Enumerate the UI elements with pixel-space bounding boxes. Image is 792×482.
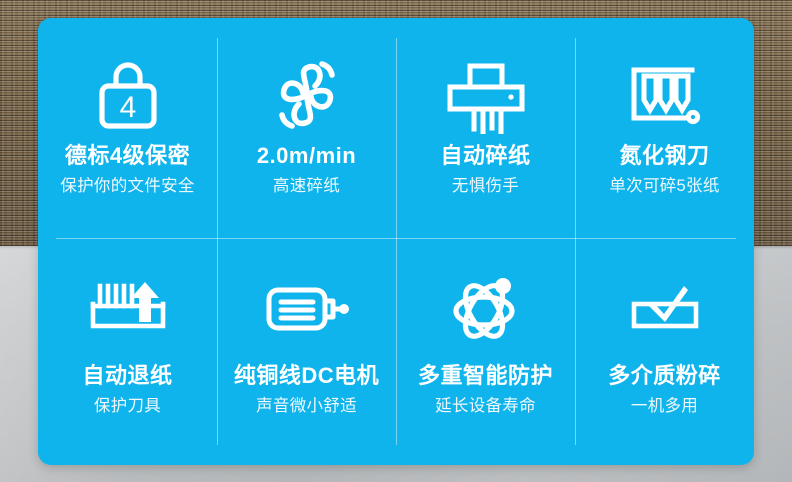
- feature-subtitle: 单次可碎5张纸: [609, 177, 719, 195]
- feature-title: 纯铜线DC电机: [234, 364, 379, 388]
- feature-subtitle: 无惧伤手: [452, 177, 519, 195]
- feature-grid: 4 德标4级保密 保护你的文件安全: [38, 18, 754, 465]
- feature-title: 德标4级保密: [65, 144, 190, 168]
- blade-teeth-icon: [622, 52, 708, 138]
- feature-subtitle: 保护刀具: [94, 397, 161, 415]
- feature-cell-auto-eject: 自动退纸 保护刀具: [38, 242, 217, 466]
- feature-subtitle: 声音微小舒适: [256, 397, 357, 415]
- lock-4-icon: 4: [90, 52, 166, 138]
- feature-subtitle: 延长设备寿命: [435, 397, 536, 415]
- fan-speed-icon: [267, 52, 347, 138]
- feature-subtitle: 一机多用: [631, 397, 698, 415]
- feature-title: 多介质粉碎: [608, 364, 721, 388]
- feature-title: 多重智能防护: [418, 364, 553, 388]
- feature-title: 氮化钢刀: [619, 144, 709, 168]
- shredder-icon: [438, 52, 534, 138]
- feature-subtitle: 保护你的文件安全: [60, 177, 194, 195]
- feature-title: 2.0m/min: [257, 144, 356, 168]
- checkmark-tray-icon: [622, 268, 708, 350]
- feature-panel: 4 德标4级保密 保护你的文件安全: [38, 18, 754, 465]
- feature-subtitle: 高速碎纸: [273, 177, 340, 195]
- feature-title: 自动退纸: [82, 364, 172, 388]
- feature-cell-motor: 纯铜线DC电机 声音微小舒适: [217, 242, 396, 466]
- lock-level-number: 4: [119, 91, 136, 124]
- feature-cell-security: 4 德标4级保密 保护你的文件安全: [38, 18, 217, 242]
- feature-cell-blade: 氮化钢刀 单次可碎5张纸: [575, 18, 754, 242]
- paper-eject-arrow-icon: [83, 268, 173, 350]
- feature-title: 自动碎纸: [440, 144, 530, 168]
- feature-cell-speed: 2.0m/min 高速碎纸: [217, 18, 396, 242]
- atom-shield-icon: [443, 268, 529, 350]
- feature-cell-protection: 多重智能防护 延长设备寿命: [396, 242, 575, 466]
- feature-cell-multimedia: 多介质粉碎 一机多用: [575, 242, 754, 466]
- promo-banner: 4 德标4级保密 保护你的文件安全: [0, 0, 792, 482]
- dc-motor-icon: [259, 268, 355, 350]
- feature-cell-auto-shred: 自动碎纸 无惧伤手: [396, 18, 575, 242]
